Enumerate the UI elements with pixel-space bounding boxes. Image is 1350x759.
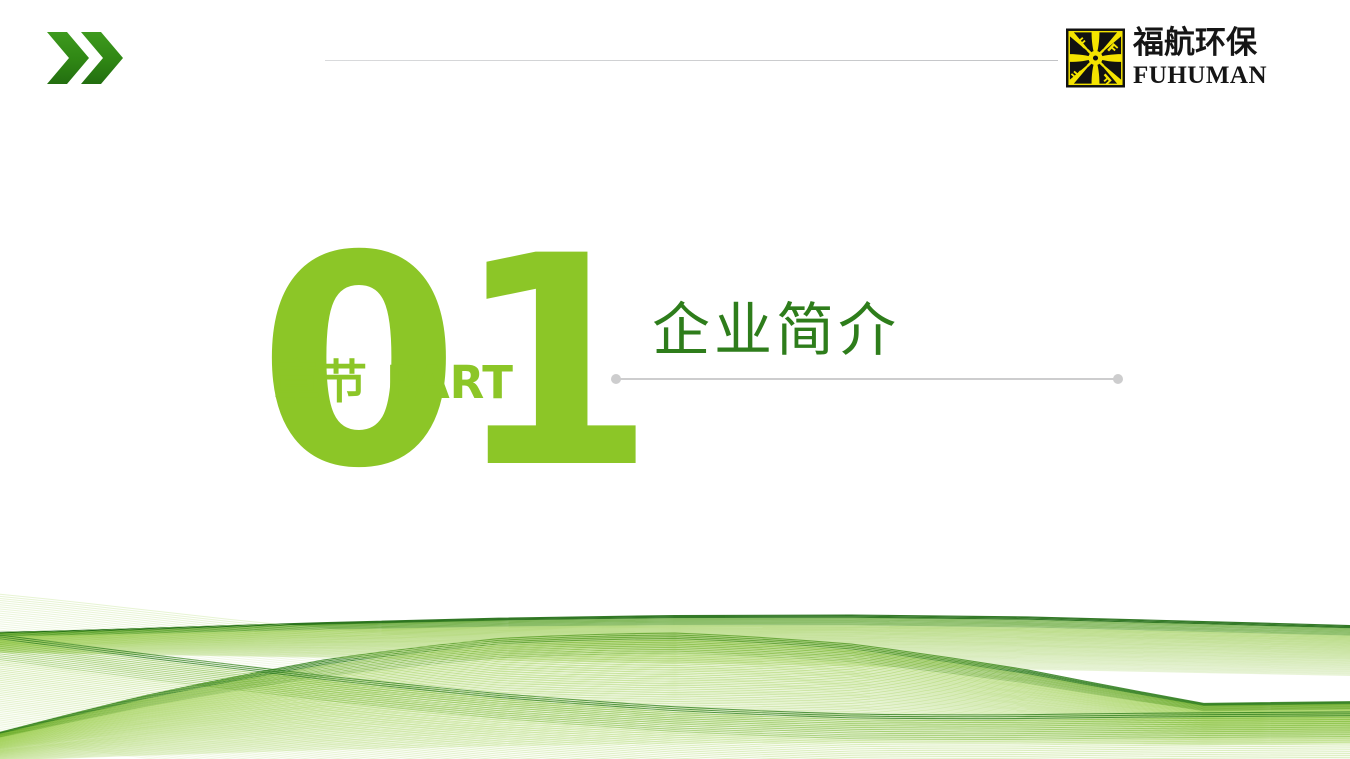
- green-ribbon-wave: [0, 559, 1350, 759]
- brand-name-block: 福航环保 FUHUMAN: [1133, 27, 1258, 89]
- double-chevron-right-icon: [45, 29, 125, 87]
- header-divider: [325, 60, 1058, 61]
- section-title: 企业简介: [652, 283, 900, 367]
- fuhuman-pinwheel-logo: F F F F: [1066, 28, 1125, 88]
- brand-name-cn: 福航环保: [1133, 27, 1258, 59]
- brand-name-en: FUHUMAN: [1133, 63, 1258, 89]
- rule-dot-right: [1113, 374, 1123, 384]
- title-underline-rule: [611, 378, 1123, 380]
- presentation-slide: F F F F 福航: [0, 0, 1350, 759]
- rule-dot-left: [611, 374, 621, 384]
- rule-bar: [617, 378, 1117, 380]
- section-number-block: 01 章节 PART: [258, 250, 528, 480]
- section-label-overlay: 章节 PART: [274, 346, 513, 412]
- section-label-en: PART: [386, 356, 513, 409]
- section-label-cn: 章节: [274, 346, 368, 412]
